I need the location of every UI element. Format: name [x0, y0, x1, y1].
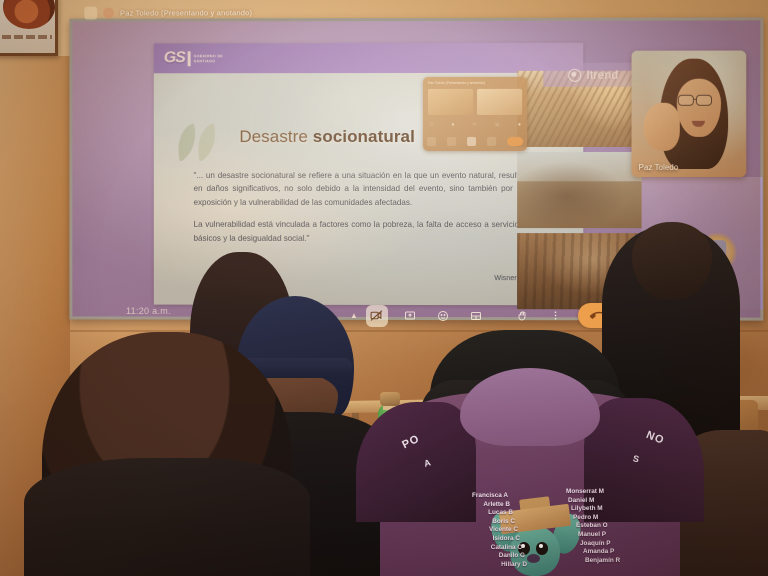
- fire-icon[interactable]: ♦: [452, 121, 455, 127]
- itrend-logo: Itrend: [543, 63, 643, 87]
- student-coat: [24, 458, 310, 576]
- glasses-left-lens-icon: [678, 95, 694, 106]
- meeting-top-bar: Paz Toledo (Presentando y anotando): [72, 2, 766, 21]
- stitch-eye-right: [536, 542, 548, 555]
- raise-hand-button[interactable]: [512, 305, 534, 327]
- presenter-status-text: Paz Toledo (Presentando y anotando): [120, 8, 252, 17]
- slide-title-bold: socionatural: [313, 127, 415, 146]
- hoodie-name-item: Catalina C: [416, 544, 522, 553]
- emoji-reaction-button[interactable]: [432, 305, 454, 327]
- hoodie-name-item: Monserrat M: [566, 488, 666, 497]
- pip-reaction-row: ♡ ♦ ☞ ☺ ●: [429, 119, 521, 130]
- thumbsup-icon[interactable]: ☺: [494, 121, 500, 127]
- layout-button[interactable]: [465, 305, 487, 327]
- poster-image: [3, 0, 55, 29]
- hoodie-name-item: Manuel P: [578, 531, 666, 540]
- slide-paragraph-1: "... un desastre socionatural se refiere…: [194, 169, 524, 209]
- logo-divider: [188, 51, 191, 66]
- hoodie-name-item: Lilybeth M: [571, 505, 666, 514]
- more-menu-button[interactable]: [545, 305, 567, 327]
- hoodie-names-left-column: Francisca AArlette BLucas BBoris CVicent…: [416, 492, 508, 569]
- pip-top-bar: Paz Toledo (Presentando y anotando): [428, 79, 522, 87]
- pip-more-icon[interactable]: [487, 137, 496, 146]
- hoodie-name-item: Vicente C: [416, 526, 518, 535]
- hoodie-name-item: Joaquín P: [580, 540, 666, 549]
- webcam-hand: [644, 103, 680, 151]
- pip-more-icon[interactable]: ●: [518, 121, 521, 127]
- hoodie-name-item: Francisca A: [416, 492, 508, 501]
- meeting-control-bar: ▲: [350, 303, 620, 328]
- slide-body-text: "... un desastre socionatural se refiere…: [194, 169, 524, 254]
- bottle-cap: [380, 392, 400, 406]
- hoodie-name-item: Esteban O: [576, 522, 666, 531]
- slide-title: Desastre socionatural: [239, 127, 415, 147]
- hoodie-name-item: Lucas B: [416, 509, 513, 518]
- picture-in-picture-meeting-window[interactable]: Paz Toledo (Presentando y anotando) ♡ ♦ …: [423, 77, 527, 151]
- leaf-decoration-icon: [174, 121, 230, 163]
- pip-mic-icon[interactable]: [427, 137, 436, 146]
- student-head: [632, 222, 712, 300]
- meeting-clock: 11:20 a.m.: [126, 306, 171, 316]
- camera-off-button[interactable]: [366, 305, 388, 327]
- photo-flooded-area: [517, 152, 641, 228]
- presentation-icon: [84, 6, 97, 19]
- poster-text-lines: [2, 35, 52, 39]
- hoodie-name-item: Amanda P: [583, 548, 666, 557]
- hoodie-name-item: Benjamín R: [585, 557, 666, 566]
- presenter-avatar: [103, 7, 114, 18]
- pip-status-text: Paz Toledo (Presentando y anotando): [428, 81, 485, 85]
- logo-line-2: SANTIAGO: [194, 59, 223, 63]
- hoodie-name-item: Arlette B: [416, 501, 510, 510]
- itrend-wordmark: Itrend: [586, 68, 618, 82]
- pip-participant-tiles: [428, 89, 522, 115]
- logo-subtext: GOBIERNO DE SANTIAGO: [194, 54, 223, 63]
- hoodie-name-item: Isidora C: [416, 535, 520, 544]
- glasses-right-lens-icon: [696, 95, 712, 106]
- logo-line-1: GOBIERNO DE: [194, 54, 223, 58]
- slide-paragraph-2: La vulnerabilidad está vinculada a facto…: [194, 218, 524, 245]
- slide-title-plain: Desastre: [239, 127, 312, 146]
- pip-tile-1[interactable]: [428, 89, 473, 115]
- webcam-face: [677, 79, 721, 137]
- hoodie-name-item: Daniel M: [568, 497, 666, 506]
- chevron-up-icon[interactable]: ▲: [350, 311, 358, 320]
- hoodie-name-item: Danilo G: [416, 552, 525, 561]
- pip-end-call-button[interactable]: [507, 137, 523, 146]
- pip-present-icon[interactable]: [467, 137, 476, 146]
- hoodie-name-item: Hillary D: [416, 561, 527, 570]
- heart-icon[interactable]: ♡: [429, 121, 434, 127]
- student-purple-graduation-hoodie: PO NO A S Francisca AArlette BLucas BBor…: [380, 392, 680, 576]
- gobierno-de-santiago-logo: GS GOBIERNO DE SANTIAGO: [164, 49, 223, 67]
- pip-camera-icon[interactable]: [447, 137, 456, 146]
- participant-name-paz-toledo: Paz Toledo: [639, 163, 679, 172]
- gs-monogram: GS: [164, 49, 185, 67]
- participant-tile-paz-toledo[interactable]: Paz Toledo: [632, 51, 747, 177]
- classroom-scene: Paz Toledo (Presentando y anotando) Pabl…: [0, 0, 768, 576]
- hoodie-names-right-column: Monserrat MDaniel MLilybeth MPedro MEste…: [566, 488, 666, 565]
- student-curly-hair-left: [42, 332, 292, 576]
- stitch-nose: [527, 554, 540, 563]
- pip-control-bar: [427, 135, 523, 148]
- present-screen-button[interactable]: [399, 305, 421, 327]
- clap-icon[interactable]: ☞: [472, 121, 477, 127]
- glasses-bridge: [694, 99, 697, 100]
- framed-poster: [0, 0, 58, 56]
- itrend-ring-icon: [568, 68, 581, 81]
- pip-tile-2[interactable]: [477, 89, 522, 115]
